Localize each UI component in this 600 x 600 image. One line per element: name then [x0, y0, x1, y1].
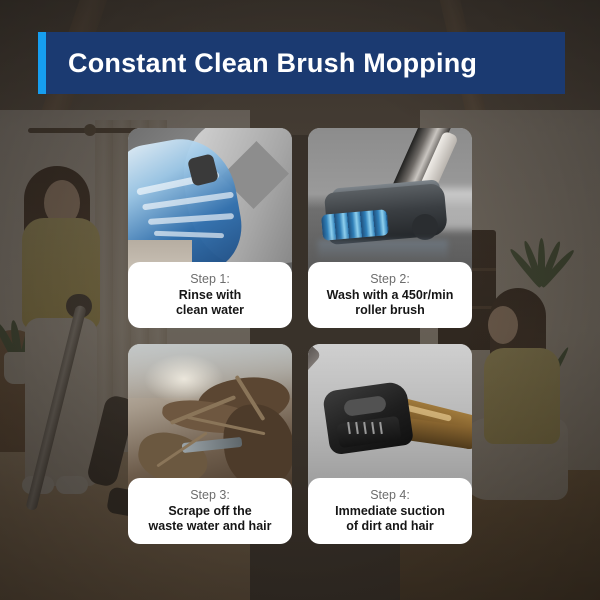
- step-4-label: Step 4: Immediate suctionof dirt and hai…: [308, 478, 472, 544]
- page-title: Constant Clean Brush Mopping: [46, 48, 477, 79]
- step-2-kicker: Step 2:: [370, 272, 410, 286]
- vacuum-suction-head: [322, 380, 414, 455]
- banner-body: Constant Clean Brush Mopping: [46, 32, 565, 94]
- step-2-label: Step 2: Wash with a 450r/minroller brush: [308, 262, 472, 328]
- step-3-description: Scrape off thewaste water and hair: [144, 504, 277, 534]
- step-4-description: Immediate suctionof dirt and hair: [330, 504, 450, 534]
- banner-accent-bar: [38, 32, 46, 94]
- step-4-kicker: Step 4:: [370, 488, 410, 502]
- step-1-kicker: Step 1:: [190, 272, 230, 286]
- step-3-kicker: Step 3:: [190, 488, 230, 502]
- step-4-image: [308, 344, 472, 488]
- step-1-description: Rinse withclean water: [171, 288, 249, 318]
- step-card-3[interactable]: Step 3: Scrape off thewaste water and ha…: [128, 344, 292, 544]
- step-3-image: [128, 344, 292, 488]
- step-card-1[interactable]: Step 1: Rinse withclean water: [128, 128, 292, 328]
- step-2-image: [308, 128, 472, 272]
- floor-reflection: [318, 240, 448, 262]
- step-1-image: [128, 128, 292, 272]
- vacuum-head-wheel: [412, 214, 438, 240]
- step-card-2[interactable]: Step 2: Wash with a 450r/minroller brush: [308, 128, 472, 328]
- step-2-description: Wash with a 450r/minroller brush: [322, 288, 459, 318]
- step-card-grid: Step 1: Rinse withclean water Step 2: Wa…: [128, 128, 472, 548]
- step-1-label: Step 1: Rinse withclean water: [128, 262, 292, 328]
- step-3-label: Step 3: Scrape off thewaste water and ha…: [128, 478, 292, 544]
- step-card-4[interactable]: Step 4: Immediate suctionof dirt and hai…: [308, 344, 472, 544]
- promo-banner-page: Constant Clean Brush Mopping Step 1: Rin…: [0, 0, 600, 600]
- title-banner: Constant Clean Brush Mopping: [38, 32, 565, 94]
